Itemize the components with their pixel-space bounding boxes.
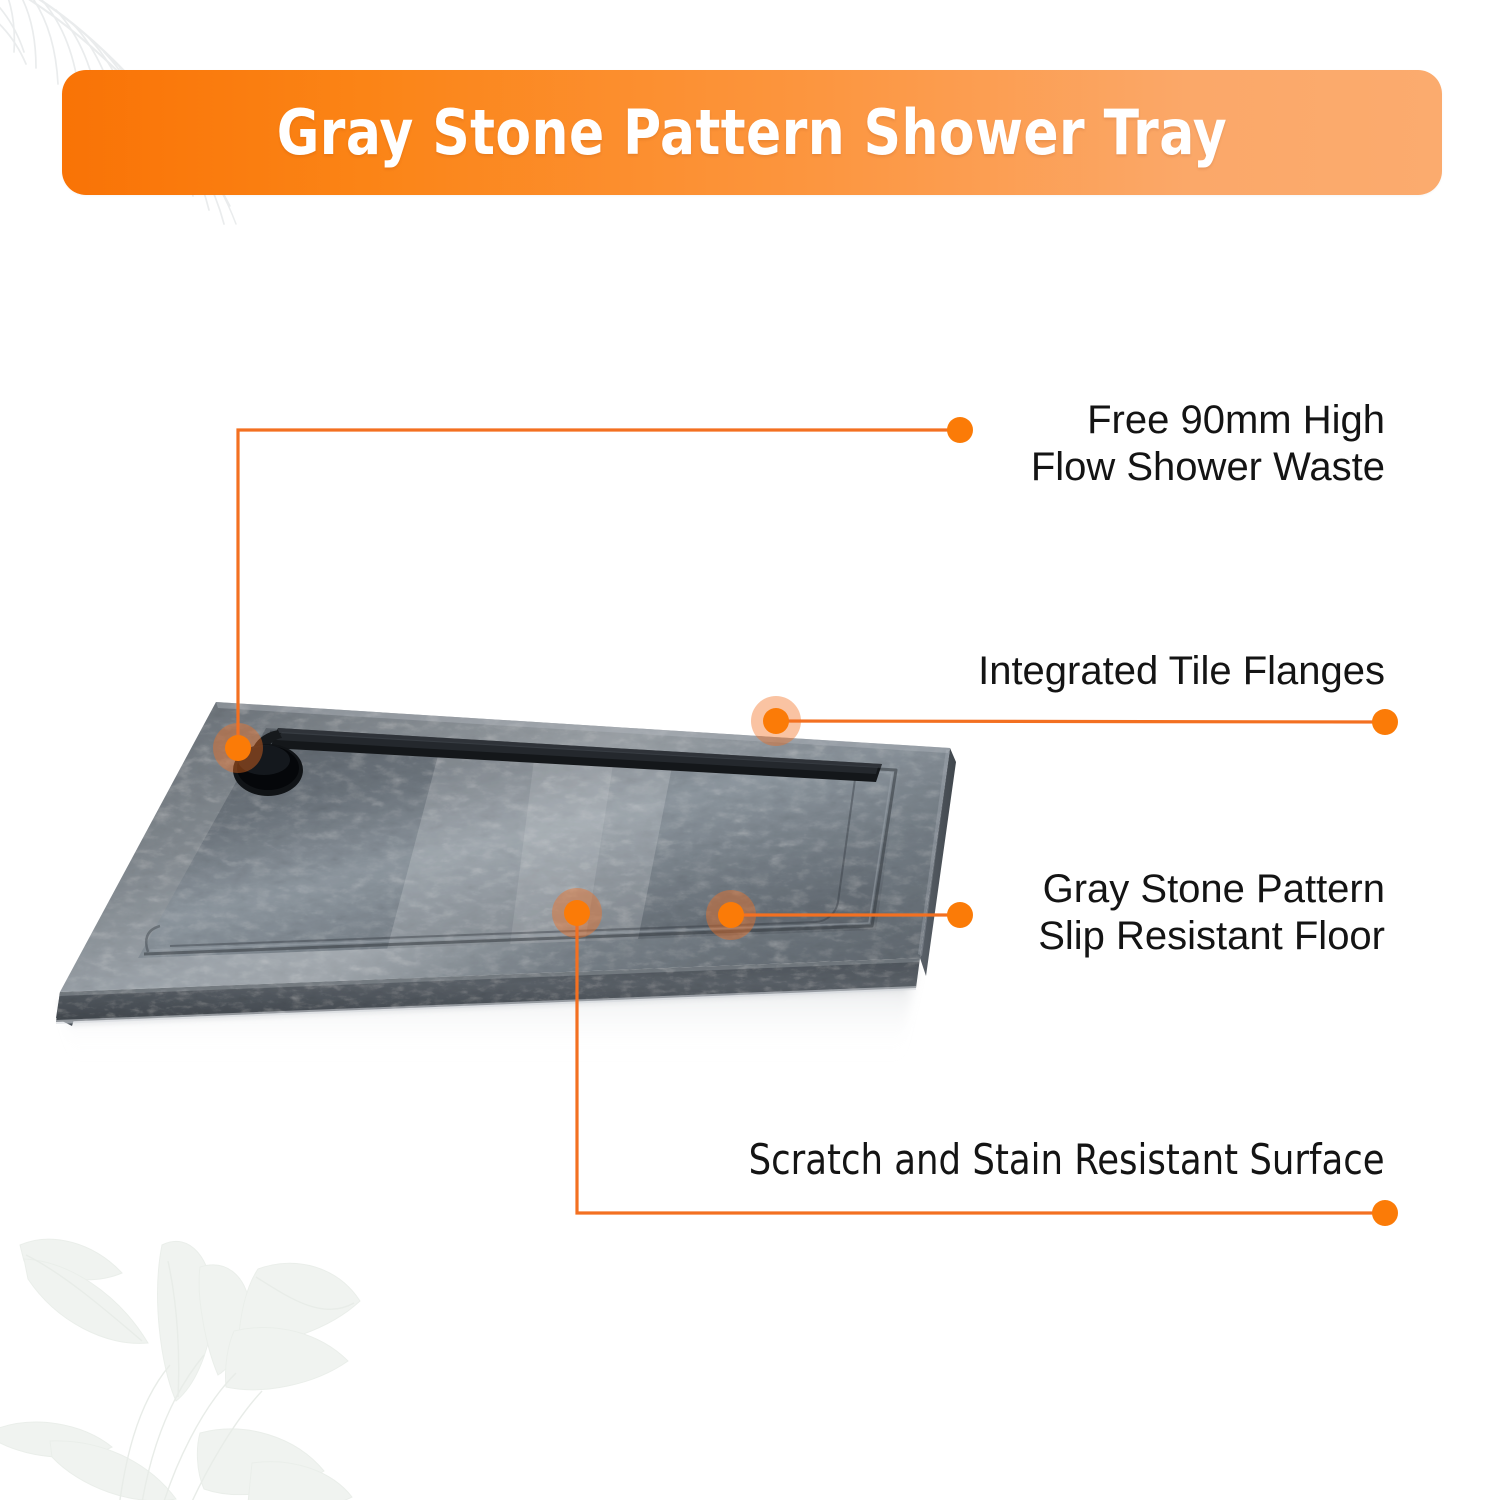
infographic-canvas: Gray Stone Pattern Shower Tray — [0, 0, 1500, 1500]
page-title-banner: Gray Stone Pattern Shower Tray — [62, 70, 1442, 195]
callout-waste-line-1: Free 90mm High — [1031, 397, 1385, 444]
callout-label-flanges: Integrated Tile Flanges — [978, 648, 1385, 695]
page-title: Gray Stone Pattern Shower Tray — [277, 102, 1227, 164]
callout-floor-line-2: Slip Resistant Floor — [1038, 913, 1385, 960]
drain-hole — [233, 744, 303, 796]
callout-label-floor: Gray Stone Pattern Slip Resistant Floor — [1038, 866, 1385, 960]
endpoint-dot-flanges — [1372, 709, 1398, 735]
callout-scratch-line-1: Scratch and Stain Resistant Surface — [749, 1136, 1385, 1183]
endpoint-dot-scratch — [1372, 1200, 1398, 1226]
plant-leaves-watermark — [0, 1215, 420, 1500]
callout-label-waste: Free 90mm High Flow Shower Waste — [1031, 397, 1385, 491]
callout-label-scratch: Scratch and Stain Resistant Surface — [708, 1136, 1385, 1183]
callout-waste-line-2: Flow Shower Waste — [1031, 444, 1385, 491]
product-image-shower-tray — [20, 640, 980, 1080]
callout-flanges-line-1: Integrated Tile Flanges — [978, 648, 1385, 695]
endpoint-dot-waste — [947, 417, 973, 443]
callout-floor-line-1: Gray Stone Pattern — [1038, 866, 1385, 913]
